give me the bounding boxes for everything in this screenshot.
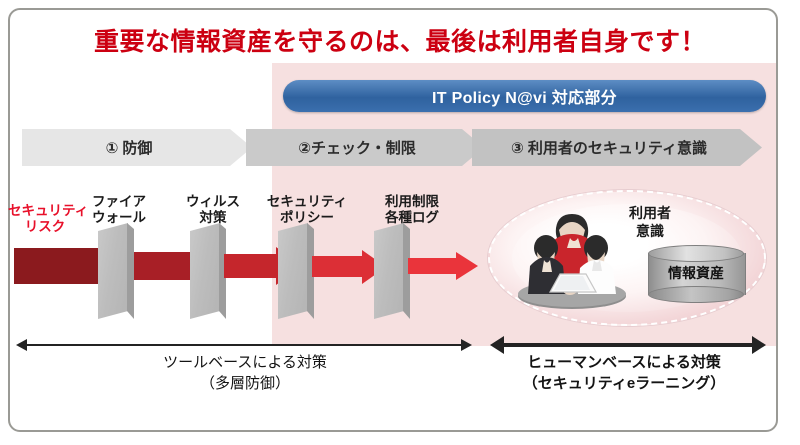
security-risk-label: セキュリティ リスク — [8, 203, 82, 235]
wall-usage-restriction-logs-face — [374, 223, 404, 319]
tool-base-caption: ツールベースによる対策 （多層防御） — [40, 352, 450, 394]
page-title: 重要な情報資産を守るのは、最後は利用者自身です！ — [0, 22, 800, 58]
attack-arrow-2-shaft — [134, 252, 192, 280]
phase-chevron-3-label: ③ 利用者のセキュリティ意識 — [472, 137, 762, 158]
attack-arrow-1-shaft — [14, 248, 100, 284]
phase-chevron-2-label: ②チェック・制限 — [246, 137, 484, 158]
wall-label-security-policy-line1: セキュリティ — [262, 194, 352, 210]
tool-base-caption-line1: ツールベースによる対策 — [40, 352, 450, 373]
phase-chevron-1-label: ① 防御 — [22, 137, 252, 158]
cylinder-bottom — [648, 286, 744, 303]
wall-label-antivirus: ウィルス 対策 — [176, 194, 250, 226]
security-risk-label-line1: セキュリティ — [8, 203, 82, 219]
human-base-caption-line1: ヒューマンベースによる対策 — [474, 352, 774, 373]
wall-antivirus-face — [190, 223, 220, 319]
human-base-caption: ヒューマンベースによる対策 （セキュリティeラーニング） — [474, 352, 774, 394]
wall-label-firewall-line1: ファイア — [82, 194, 156, 210]
wall-security-policy — [278, 223, 314, 319]
attack-arrow-3-shaft — [224, 254, 278, 278]
wall-firewall-edge — [127, 223, 134, 319]
user-awareness-label: 利用者 意識 — [600, 204, 700, 240]
phase-chevron-3: ③ 利用者のセキュリティ意識 — [472, 129, 762, 166]
human-base-caption-line2: （セキュリティeラーニング） — [474, 373, 774, 394]
diagram-canvas: 重要な情報資産を守るのは、最後は利用者自身です！ IT Policy N@vi … — [0, 0, 800, 445]
wall-label-security-policy: セキュリティ ポリシー — [262, 194, 352, 226]
tool-base-caption-line2: （多層防御） — [40, 373, 450, 394]
wall-usage-restriction-logs — [374, 223, 410, 319]
wall-firewall — [98, 223, 134, 319]
wall-label-firewall: ファイア ウォール — [82, 194, 156, 226]
attack-arrow-5-head — [456, 252, 478, 280]
human-base-span-line — [502, 343, 754, 347]
it-policy-navi-banner: IT Policy N@vi 対応部分 — [283, 80, 766, 112]
wall-label-antivirus-line1: ウィルス — [176, 194, 250, 210]
user-awareness-label-line1: 利用者 — [600, 204, 700, 222]
wall-security-policy-face — [278, 223, 308, 319]
attack-arrow-5-shaft — [408, 258, 458, 274]
security-risk-label-line2: リスク — [8, 219, 82, 235]
wall-antivirus — [190, 223, 226, 319]
information-asset-cylinder: 情報資産 — [648, 245, 744, 301]
tool-base-span-line — [26, 344, 464, 346]
banner-label: IT Policy N@vi 対応部分 — [432, 84, 617, 108]
user-awareness-label-line2: 意識 — [600, 222, 700, 240]
wall-firewall-face — [98, 223, 128, 319]
information-asset-label: 情報資産 — [648, 263, 744, 283]
tool-base-span-arrowhead-right — [461, 339, 472, 351]
phase-chevron-2: ②チェック・制限 — [246, 129, 484, 166]
phase-chevron-1: ① 防御 — [22, 129, 252, 166]
tool-base-span-arrowhead-left — [16, 339, 27, 351]
wall-label-usage-restriction-logs-line1: 利用制限 — [368, 194, 456, 210]
wall-label-usage-restriction-logs: 利用制限 各種ログ — [368, 194, 456, 226]
attack-arrow-4-shaft — [312, 256, 364, 277]
cylinder-top — [648, 245, 744, 262]
